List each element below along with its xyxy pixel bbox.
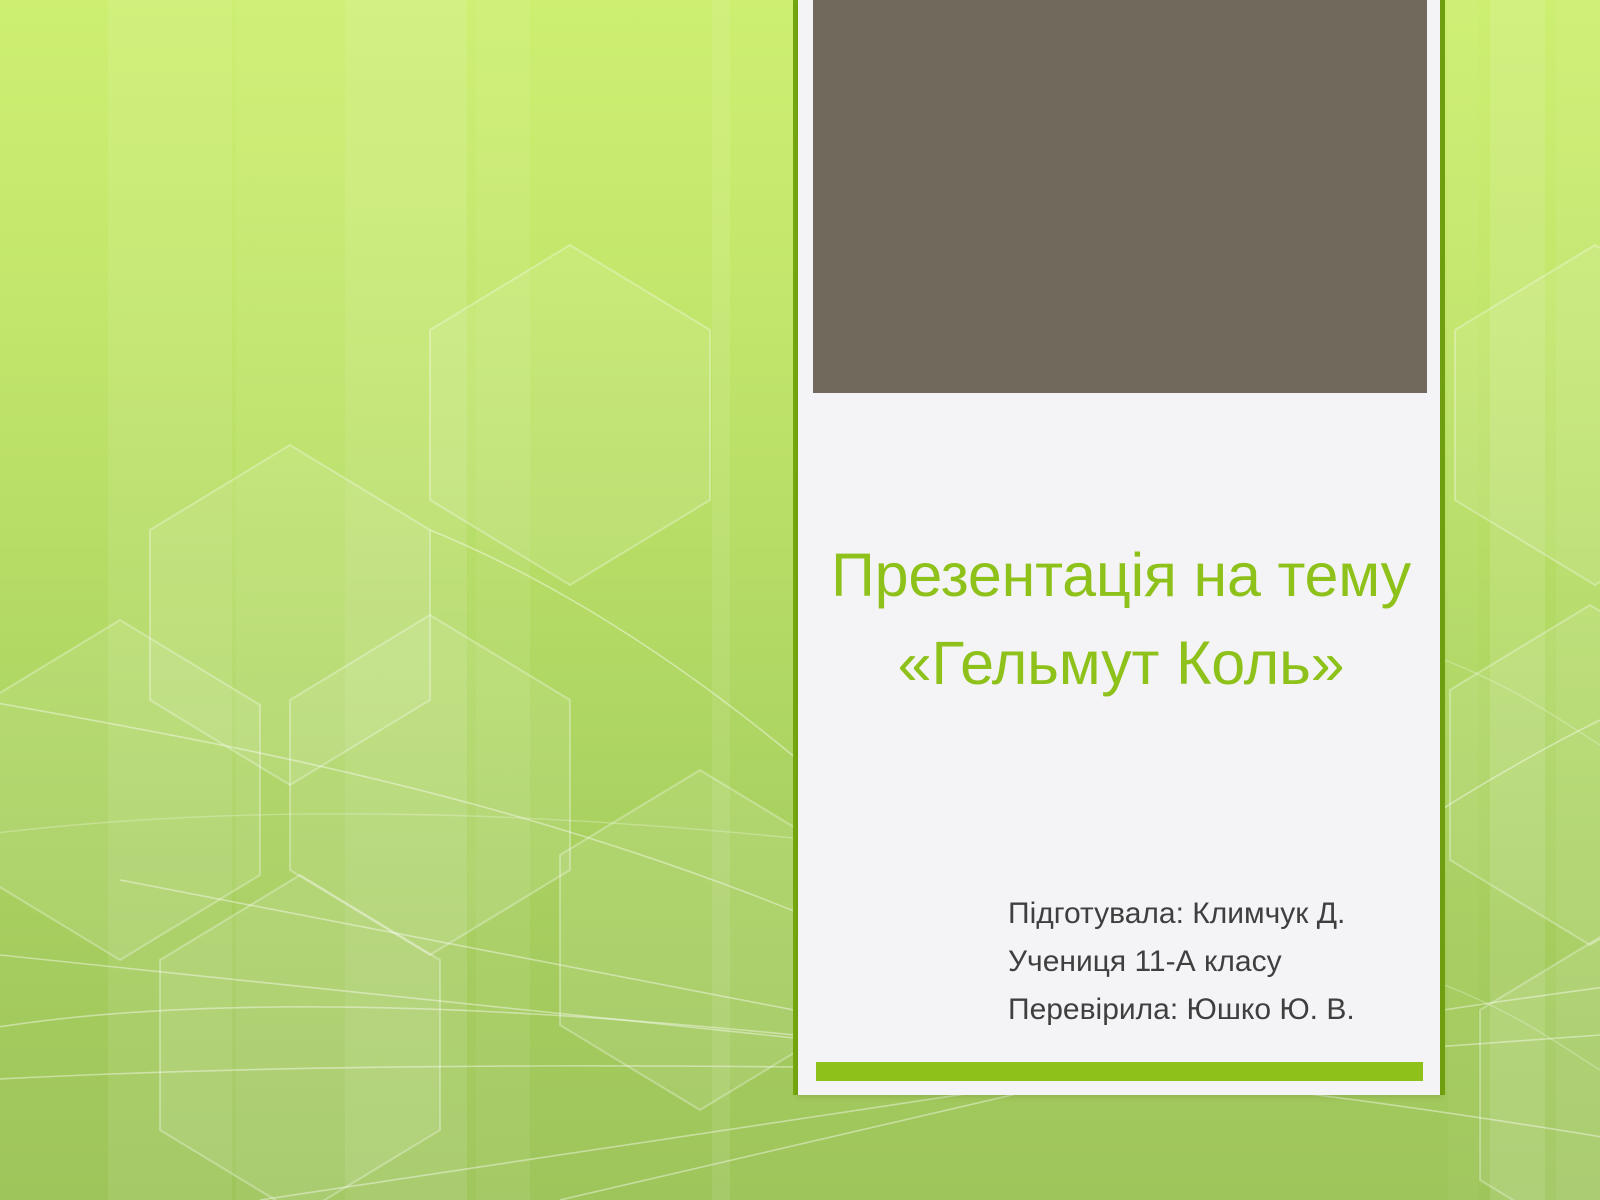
slide-subtitle[interactable]: Підготувала: Климчук Д. Учениця 11-А кла…	[1008, 890, 1458, 1034]
slide-title[interactable]: Презентація на тему «Гельмут Коль»	[826, 531, 1416, 707]
panel-right-accent-bar	[1440, 0, 1445, 1095]
subtitle-line-class: Учениця 11-А класу	[1008, 938, 1458, 986]
panel-bottom-accent-bar	[816, 1062, 1423, 1081]
presentation-slide: Презентація на тему «Гельмут Коль» Підго…	[0, 0, 1600, 1200]
subtitle-line-author: Підготувала: Климчук Д.	[1008, 890, 1458, 938]
subtitle-line-reviewer: Перевірила: Юшко Ю. В.	[1008, 986, 1458, 1034]
content-panel: Презентація на тему «Гельмут Коль» Підго…	[798, 0, 1441, 1095]
picture-placeholder[interactable]	[813, 0, 1427, 393]
